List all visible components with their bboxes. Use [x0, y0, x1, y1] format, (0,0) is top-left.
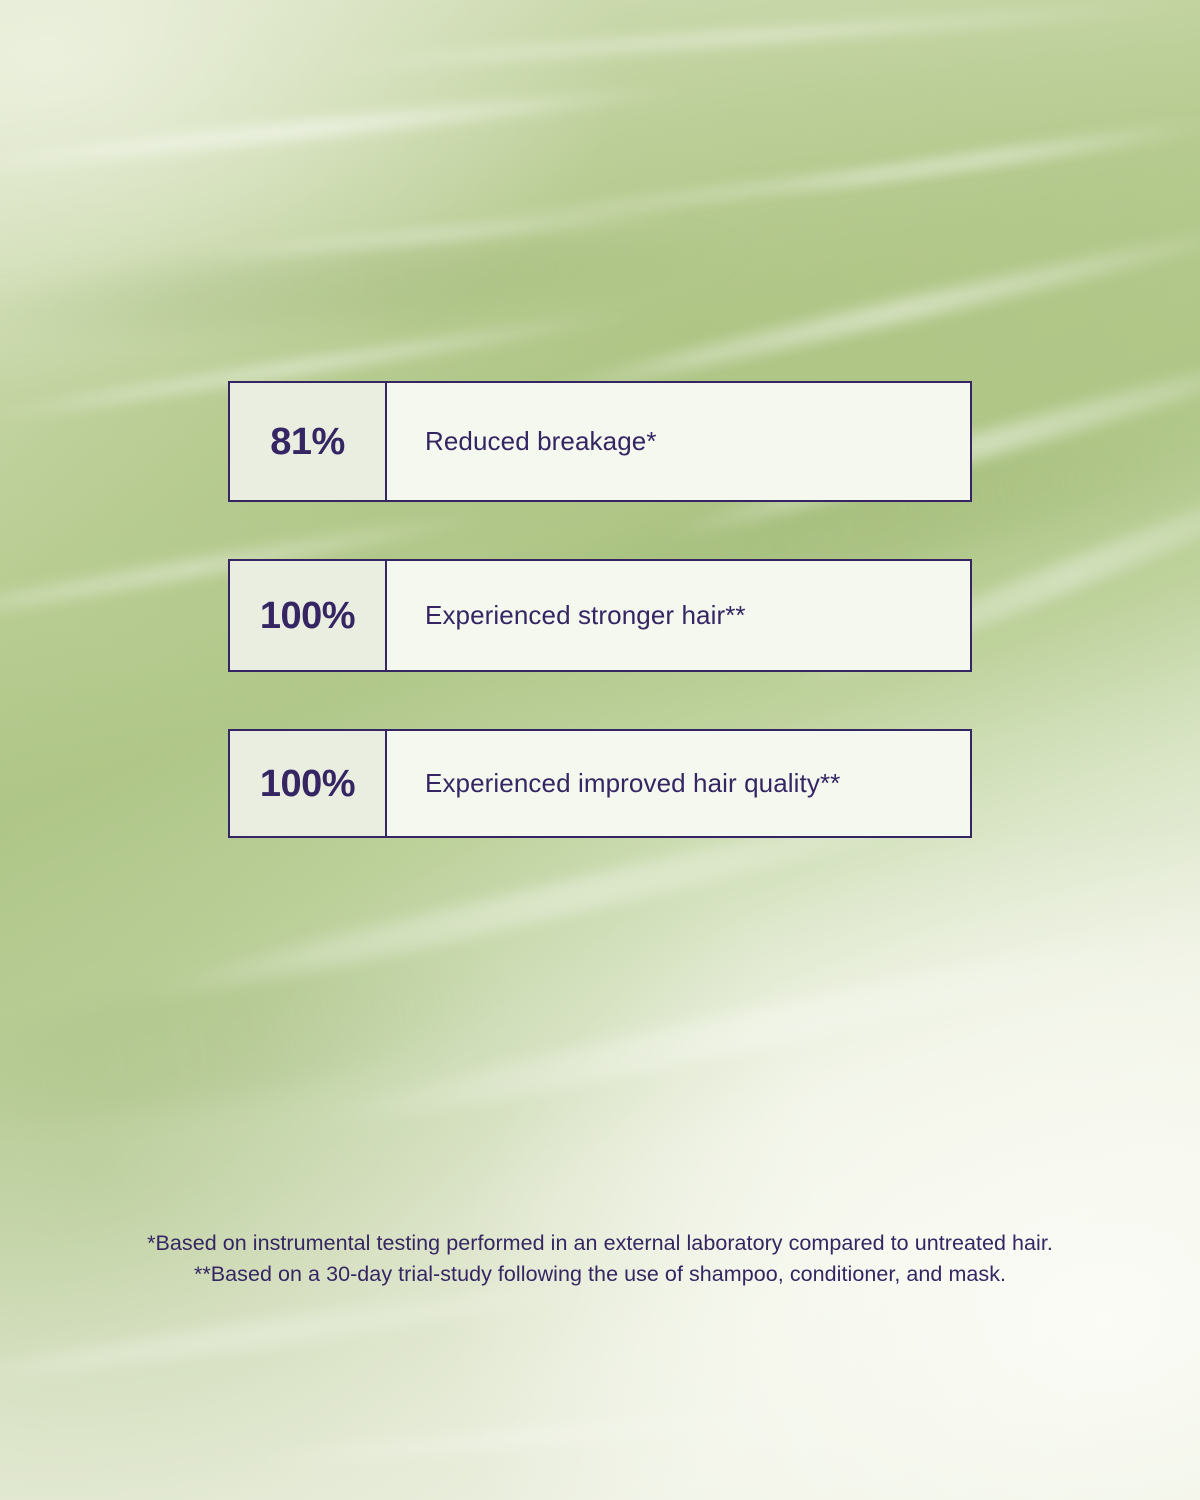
- marketing-stat-panel: 81% Reduced breakage* 100% Experienced s…: [0, 0, 1200, 1500]
- footnotes: *Based on instrumental testing performed…: [0, 1228, 1200, 1290]
- stat-card-reduced-breakage: 81% Reduced breakage*: [228, 381, 972, 502]
- stat-label: Experienced improved hair quality**: [425, 768, 840, 799]
- stat-label-cell: Experienced improved hair quality**: [387, 731, 970, 836]
- stat-card-list: 81% Reduced breakage* 100% Experienced s…: [228, 381, 972, 838]
- stat-value: 100%: [260, 765, 355, 803]
- stat-value-cell: 81%: [230, 383, 387, 500]
- stat-value-cell: 100%: [230, 731, 387, 836]
- stat-label: Reduced breakage*: [425, 426, 657, 457]
- stat-label-cell: Reduced breakage*: [387, 383, 970, 500]
- stat-label: Experienced stronger hair**: [425, 600, 746, 631]
- stat-card-improved-hair-quality: 100% Experienced improved hair quality**: [228, 729, 972, 838]
- stat-value: 81%: [270, 423, 345, 461]
- stat-value: 100%: [260, 597, 355, 635]
- footnote-single-asterisk: *Based on instrumental testing performed…: [0, 1228, 1200, 1259]
- stat-card-stronger-hair: 100% Experienced stronger hair**: [228, 559, 972, 672]
- stat-label-cell: Experienced stronger hair**: [387, 561, 970, 670]
- stat-value-cell: 100%: [230, 561, 387, 670]
- footnote-double-asterisk: **Based on a 30-day trial-study followin…: [0, 1259, 1200, 1290]
